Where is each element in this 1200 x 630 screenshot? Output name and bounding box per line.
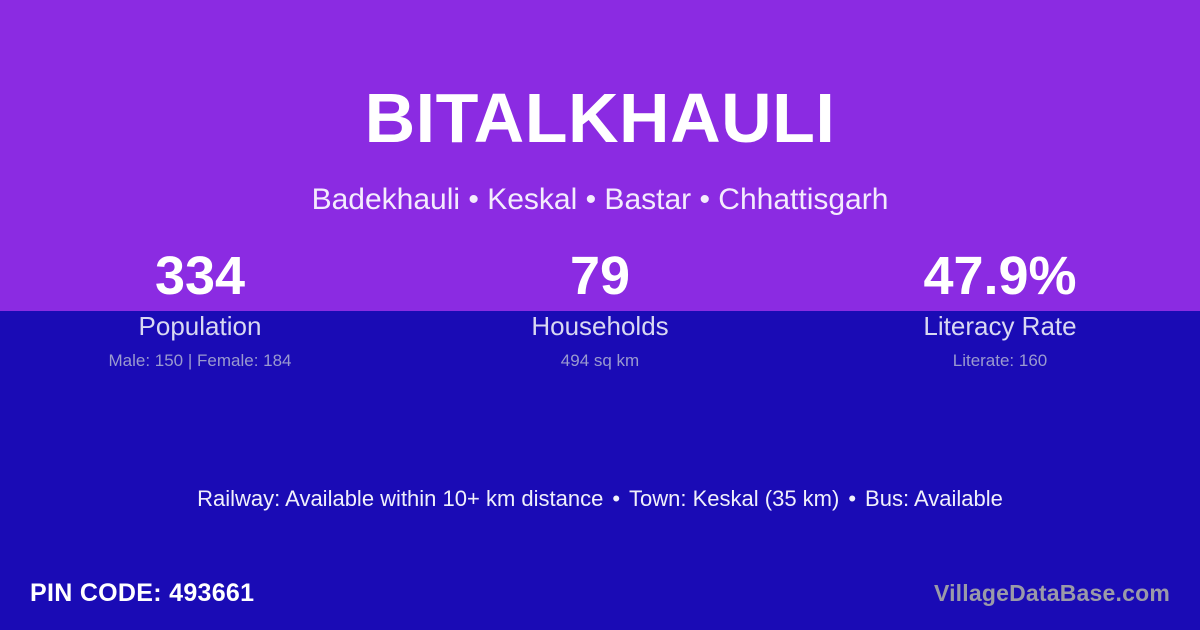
transport-railway: Railway: Available within 10+ km distanc… xyxy=(197,486,603,511)
transport-separator-2: • xyxy=(839,486,865,511)
stat-population: 334 Population Male: 150 | Female: 184 xyxy=(0,248,400,372)
brand-watermark: VillageDataBase.com xyxy=(934,580,1170,607)
stat-households-label: Households xyxy=(400,311,800,341)
card-footer: PIN CODE: 493661 VillageDataBase.com xyxy=(0,572,1200,614)
pin-code: PIN CODE: 493661 xyxy=(30,579,254,608)
stat-population-label: Population xyxy=(0,311,400,341)
stat-households-sub: 494 sq km xyxy=(400,350,800,372)
stat-literacy-label: Literacy Rate xyxy=(800,311,1200,341)
transport-bus: Bus: Available xyxy=(865,486,1003,511)
stat-households: 79 Households 494 sq km xyxy=(400,248,800,372)
stat-literacy-sub: Literate: 160 xyxy=(800,350,1200,372)
stat-households-value: 79 xyxy=(400,248,800,304)
stat-literacy: 47.9% Literacy Rate Literate: 160 xyxy=(800,248,1200,372)
transport-town: Town: Keskal (35 km) xyxy=(629,486,839,511)
page-title: BITALKHAULI xyxy=(0,83,1200,153)
stat-literacy-value: 47.9% xyxy=(800,248,1200,304)
breadcrumb: Badekhauli • Keskal • Bastar • Chhattisg… xyxy=(0,182,1200,218)
stat-population-value: 334 xyxy=(0,248,400,304)
transport-info: Railway: Available within 10+ km distanc… xyxy=(0,484,1200,514)
stats-row: 334 Population Male: 150 | Female: 184 7… xyxy=(0,248,1200,372)
transport-separator-1: • xyxy=(603,486,629,511)
stat-population-sub: Male: 150 | Female: 184 xyxy=(0,350,400,372)
village-info-card: BITALKHAULI Badekhauli • Keskal • Bastar… xyxy=(0,0,1200,630)
